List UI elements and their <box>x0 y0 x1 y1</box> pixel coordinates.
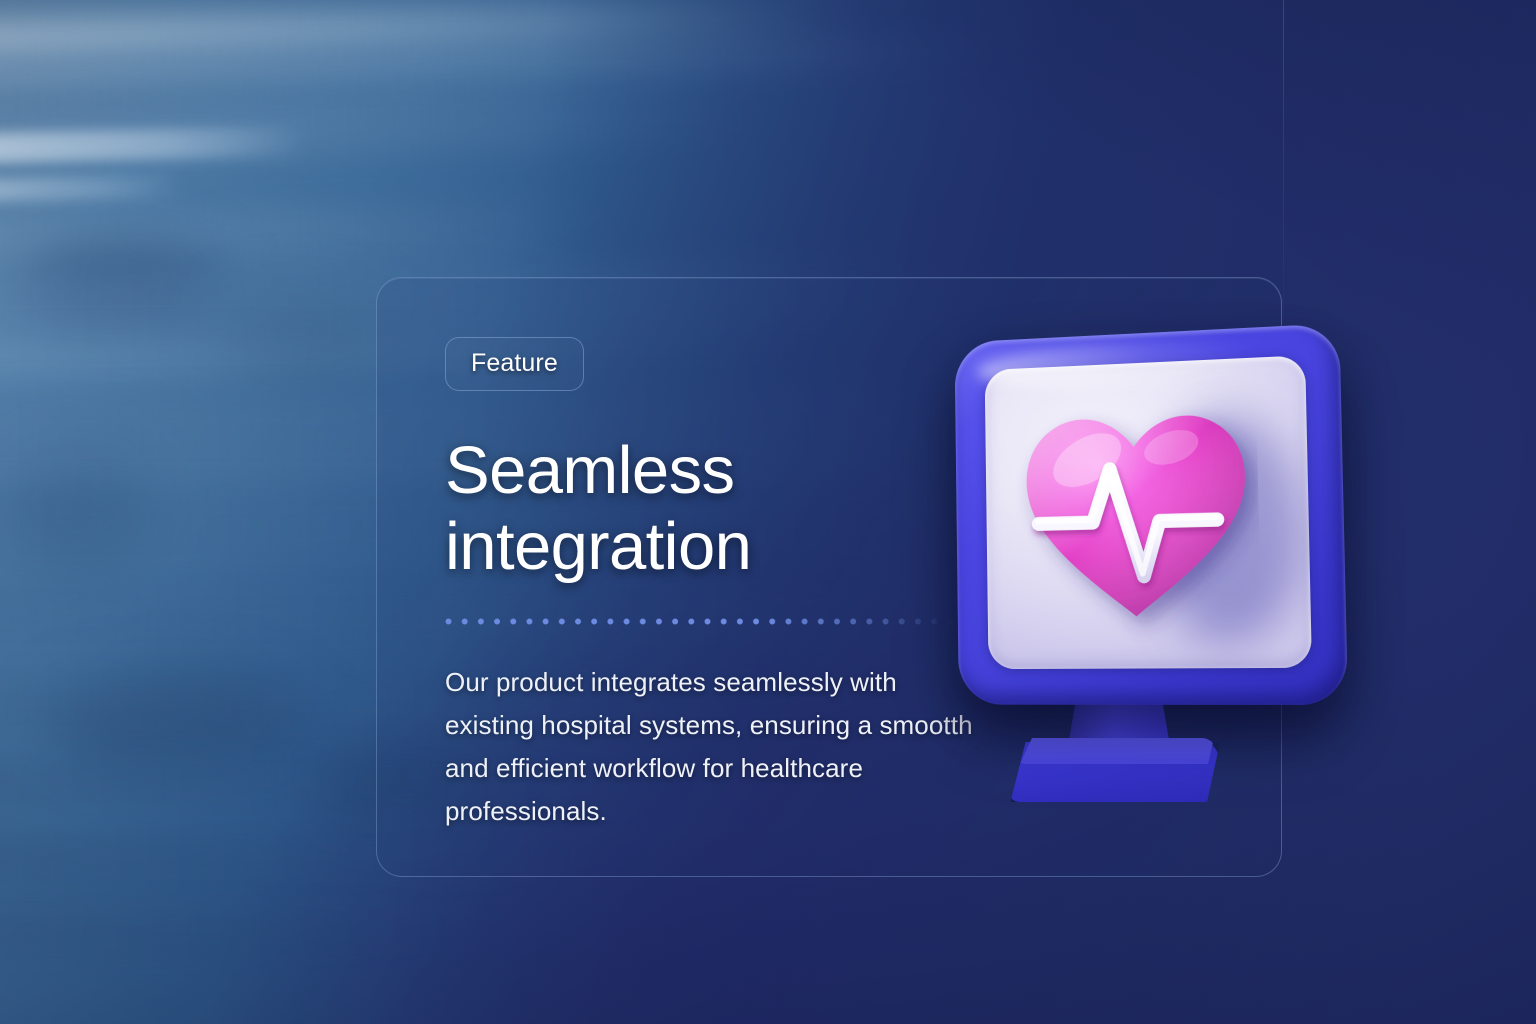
feature-card-slide: Feature Seamless integration Our product… <box>0 0 1536 1024</box>
heart-pulse-icon <box>1013 376 1262 651</box>
page-title: Seamless integration <box>445 433 985 584</box>
dotted-divider <box>445 618 955 625</box>
monitor-stand-base-top <box>1016 738 1216 764</box>
monitor-screen <box>985 355 1312 669</box>
feature-card-content: Feature Seamless integration Our product… <box>445 337 985 833</box>
background-guide-line <box>1283 0 1284 340</box>
feature-description: Our product integrates seamlessly with e… <box>445 661 975 833</box>
feature-badge: Feature <box>445 337 584 391</box>
heart-monitor-illustration <box>938 318 1358 818</box>
monitor-bezel <box>954 323 1348 705</box>
